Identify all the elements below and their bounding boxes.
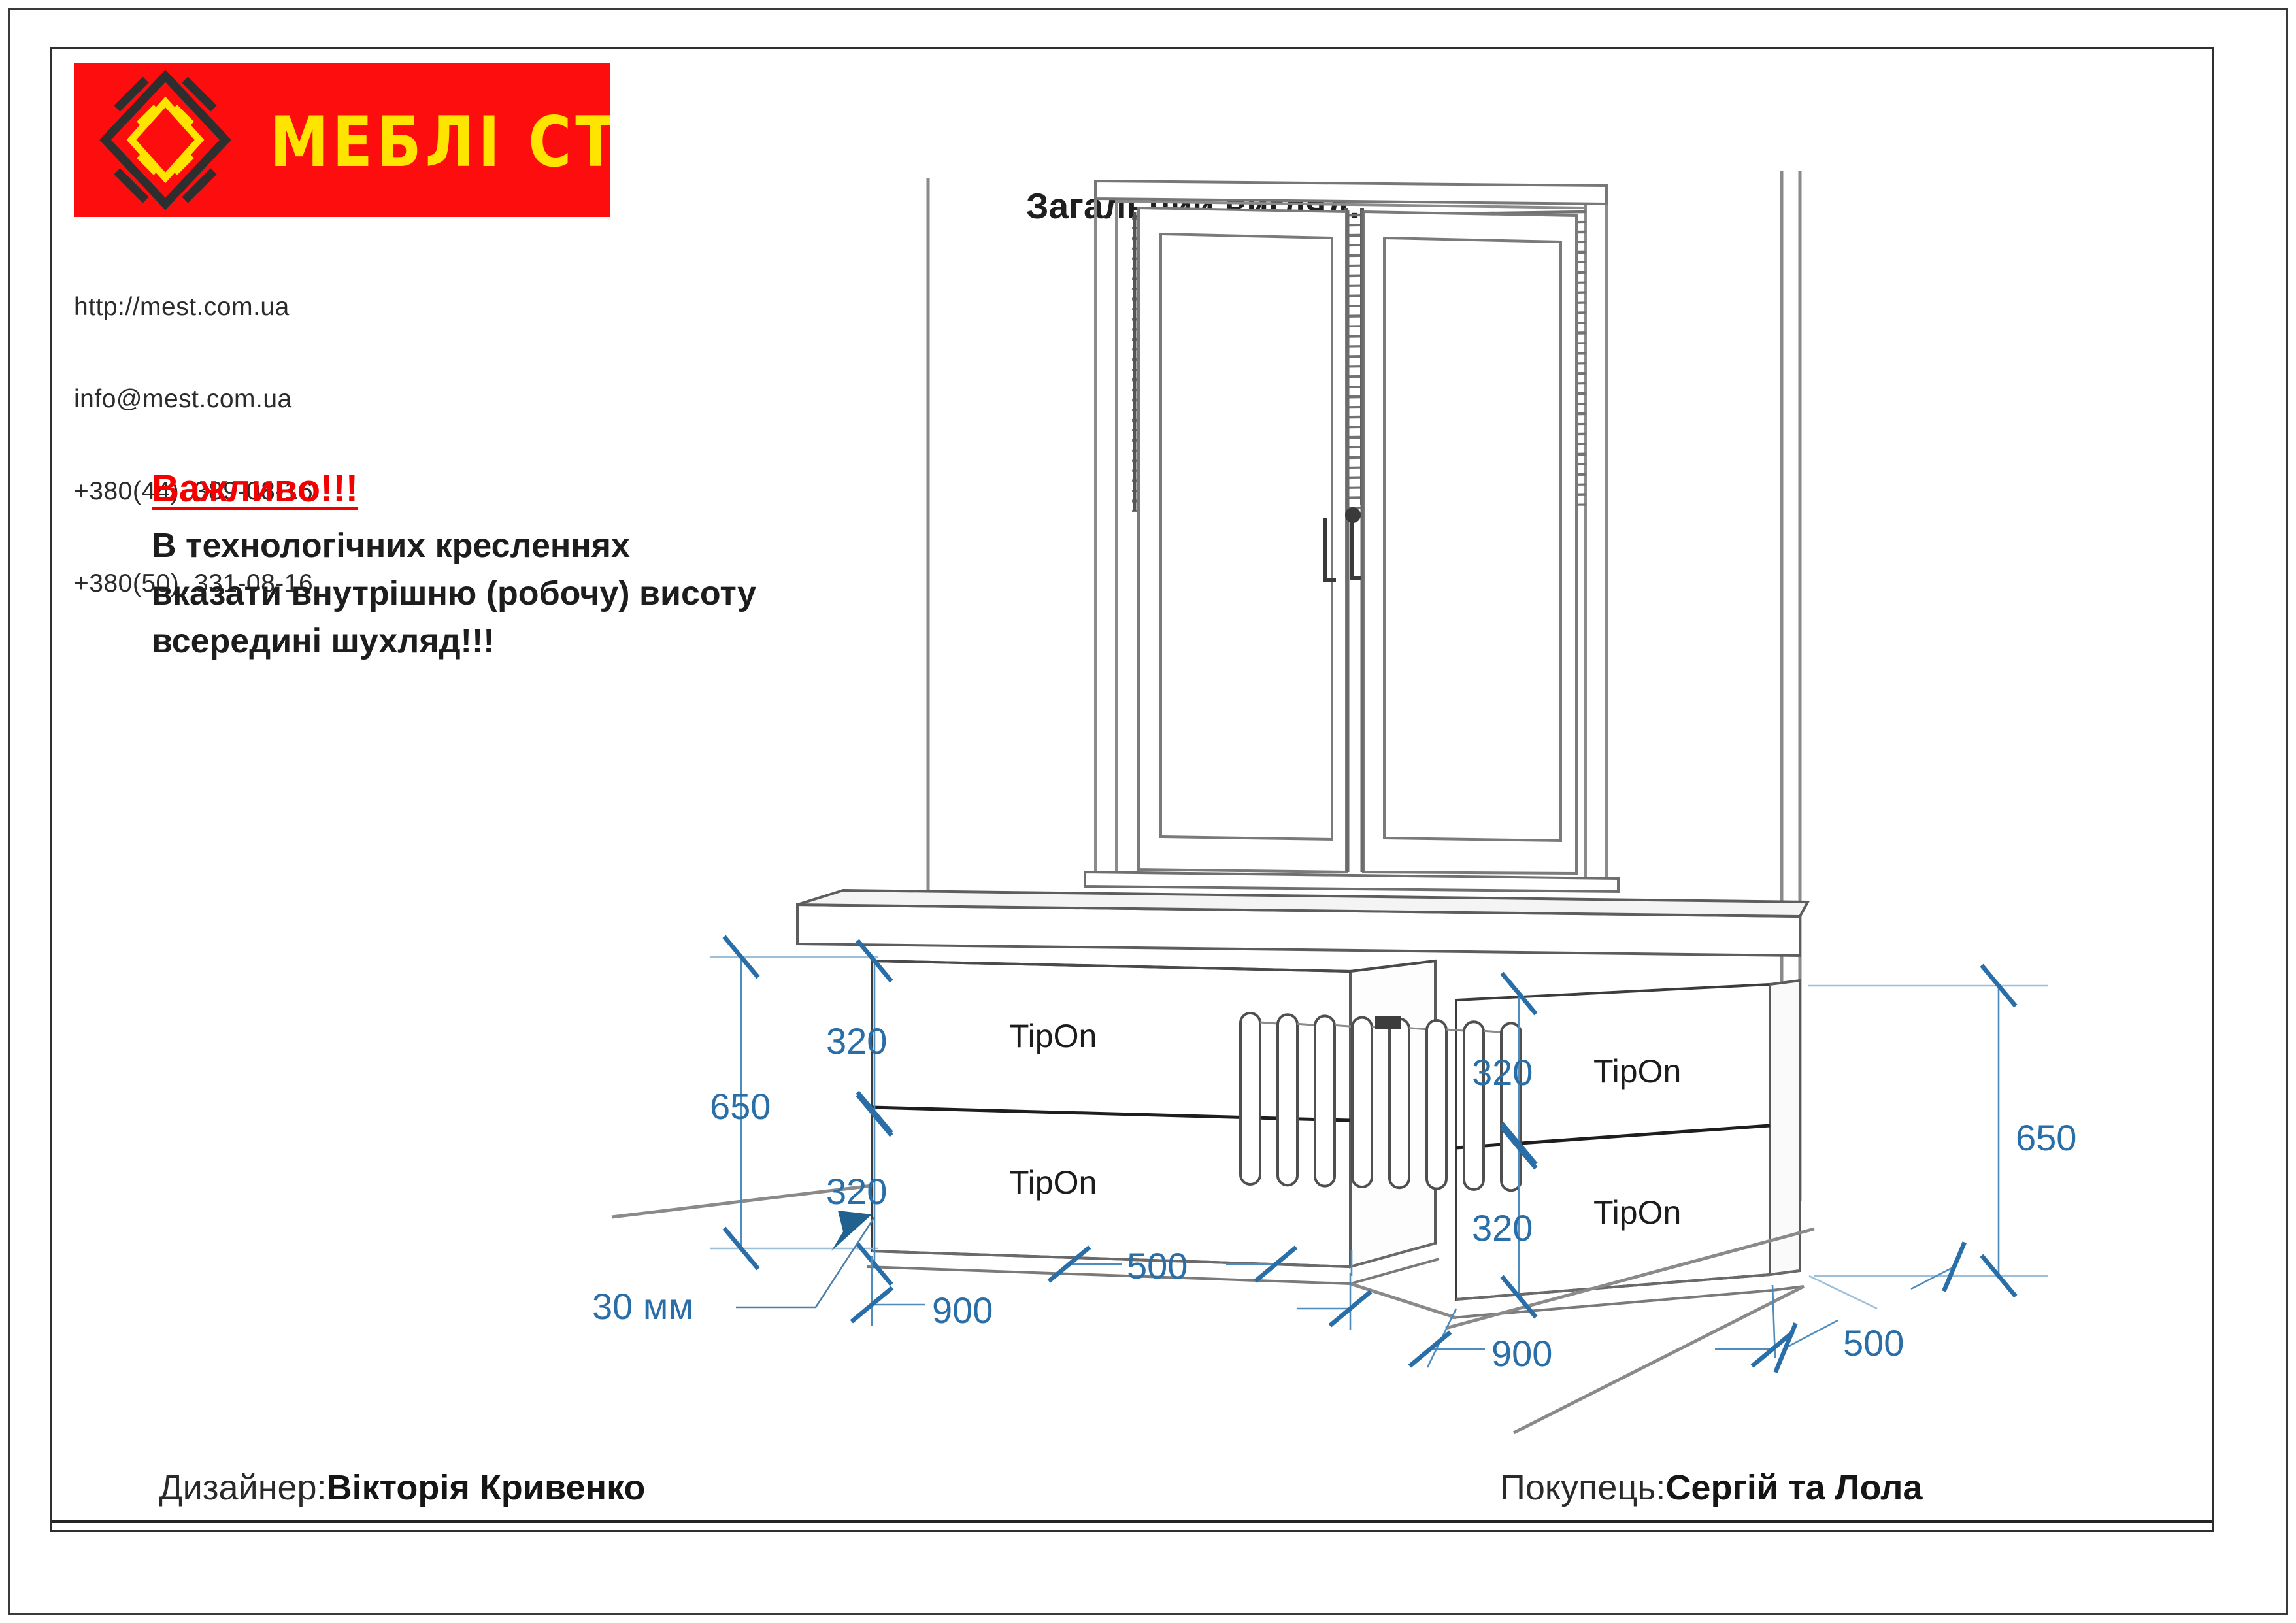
dim-right-drawer-bottom: 320 bbox=[1472, 1207, 1533, 1248]
callout-30mm-text: 30 мм bbox=[592, 1286, 693, 1327]
designer-field: Дизайнер:Вікторія Кривенко bbox=[159, 1467, 645, 1508]
dim-right-drawer-top: 320 bbox=[1472, 1052, 1533, 1093]
buyer-name: Сергій та Лола bbox=[1665, 1468, 1922, 1507]
designer-label: Дизайнер: bbox=[159, 1468, 327, 1507]
countertop bbox=[797, 890, 1808, 956]
window-sill bbox=[1085, 872, 1618, 892]
dim-right-width: 900 bbox=[1491, 1333, 1552, 1374]
technical-drawing-canvas: 650 320 320 900 500 30 мм 320 320 bbox=[50, 47, 2214, 1532]
dim-right-depth: 500 bbox=[1843, 1322, 1904, 1364]
footer-divider bbox=[52, 1520, 2212, 1523]
label-tipon-right-bottom: TipOn bbox=[1593, 1194, 1681, 1231]
dim-right-total-height: 650 bbox=[2016, 1117, 2076, 1158]
window-sashes bbox=[1139, 208, 1576, 873]
dim-left-drawer-top: 320 bbox=[826, 1020, 887, 1062]
buyer-label: Покупець: bbox=[1500, 1468, 1665, 1507]
buyer-field: Покупець:Сергій та Лола bbox=[1500, 1467, 1922, 1508]
dimension-right-650 bbox=[1808, 986, 2048, 1276]
label-tipon-left-bottom: TipOn bbox=[1009, 1164, 1097, 1201]
dim-left-total-height: 650 bbox=[710, 1086, 771, 1127]
dim-left-drawer-bottom: 320 bbox=[826, 1171, 887, 1212]
dim-left-width: 900 bbox=[932, 1290, 993, 1331]
dim-left-depth: 500 bbox=[1127, 1245, 1188, 1286]
label-tipon-left-top: TipOn bbox=[1009, 1018, 1097, 1054]
designer-name: Вікторія Кривенко bbox=[327, 1468, 646, 1507]
label-tipon-right-top: TipOn bbox=[1593, 1053, 1681, 1090]
